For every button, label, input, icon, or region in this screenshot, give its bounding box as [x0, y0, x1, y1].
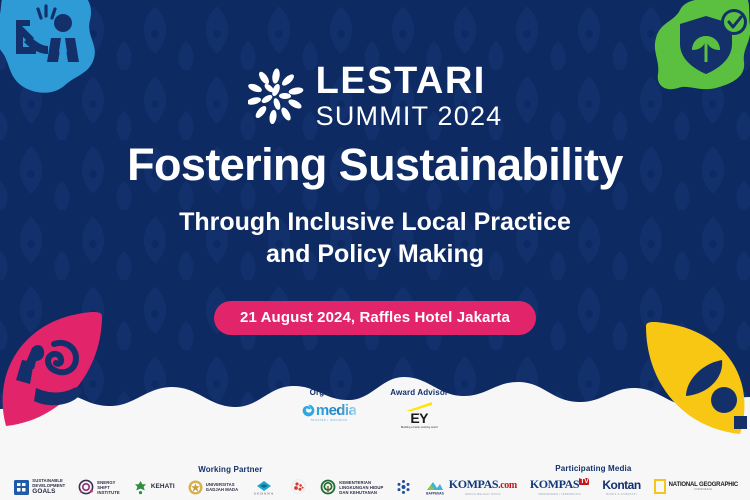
gedana-logo: GEDANA	[251, 479, 277, 495]
date-venue-badge: 21 August 2024, Raffles Hotel Jakarta	[214, 301, 536, 335]
brand-name-primary: LESTARI	[316, 62, 503, 100]
sponsor-footer: Organizer media TRUSTED | INSPIRING Awar…	[0, 388, 750, 500]
esi-line3: INSTITUTE	[97, 490, 120, 495]
brand-name-secondary: SUMMIT 2024	[316, 103, 503, 130]
kg-swirl-icon	[302, 404, 315, 417]
svg-text:GEDANA: GEDANA	[254, 492, 274, 496]
klhk-line3: DAN KEHUTANAN	[339, 490, 377, 495]
universitas-gadjah-mada-logo: UNIVERSITAS GADJAH MADA	[188, 480, 239, 495]
partner-network-logo	[396, 479, 411, 495]
brand-lockup: LESTARI SUMMIT 2024	[0, 62, 750, 130]
ugm-line2: GADJAH MADA	[206, 487, 239, 492]
kompas-com-tagline: JERNIH MELIHAT DUNIA	[449, 493, 517, 496]
energy-shift-institute-logo: ENERGY SHIFT INSTITUTE	[78, 479, 120, 495]
kehati-name: KEHATI	[151, 483, 175, 491]
ey-tagline: Building a better working world	[401, 426, 438, 429]
kompas-tv-tagline: INDEPENDEN | TERPERCAYA	[530, 493, 590, 496]
sdg-line3: GOALS	[32, 488, 65, 496]
kehati-logo: KEHATI	[133, 480, 175, 495]
event-poster: LESTARI SUMMIT 2024 Fostering Sustainabi…	[0, 0, 750, 500]
natgeo-tagline: INDONESIA	[669, 488, 738, 491]
page-subtitle: Through Inclusive Local Practice and Pol…	[0, 206, 750, 270]
participating-media-label: Participating Media	[449, 464, 738, 473]
kontan-tagline: BISNIS & INVESTASI	[602, 493, 640, 496]
kg-media-tagline: TRUSTED | INSPIRING	[302, 419, 356, 422]
kg-media-wordmark: media	[316, 402, 356, 419]
working-partner-label: Working Partner	[12, 465, 449, 474]
participating-media-block: Participating Media KOMPAS.com JERNIH ME…	[449, 464, 738, 496]
kontan-wordmark: Kontan	[602, 478, 640, 492]
award-advisor-block: Award Advisor EY Building a better worki…	[390, 388, 448, 429]
kg-media-logo: media TRUSTED | INSPIRING	[302, 402, 356, 422]
kompas-com-logo: KOMPAS.com JERNIH MELIHAT DUNIA	[449, 477, 517, 496]
kompas-com-wordmark: KOMPAS	[449, 477, 498, 491]
page-title: Fostering Sustainability	[0, 141, 750, 188]
bappenas-logo: BAPPENAS	[424, 479, 446, 495]
award-advisor-label: Award Advisor	[390, 388, 448, 397]
working-partner-block: Working Partner SUSTAINABLE DEVELOPME	[12, 465, 449, 496]
page-subtitle-line1: Through Inclusive Local Practice	[0, 206, 750, 238]
svg-text:BAPPENAS: BAPPENAS	[427, 492, 445, 496]
kontan-logo: Kontan BISNIS & INVESTASI	[602, 478, 640, 496]
organizer-label: Organizer	[310, 388, 349, 397]
kompas-tv-wordmark: KOMPAS	[530, 477, 579, 491]
ey-wordmark: EY	[410, 411, 428, 425]
klhk-logo: KEMENTERIAN LINGKUNGAN HIDUP DAN KEHUTAN…	[320, 479, 383, 495]
sdg-logo: SUSTAINABLE DEVELOPMENT GOALS	[14, 478, 65, 496]
working-partner-logos: SUSTAINABLE DEVELOPMENT GOALS	[12, 478, 449, 496]
participating-media-logos: KOMPAS.com JERNIH MELIHAT DUNIA KOMPASTV…	[449, 477, 738, 496]
page-subtitle-line2: and Policy Making	[0, 238, 750, 270]
natgeo-frame-icon	[654, 479, 666, 494]
kompas-tv-logo: KOMPASTV INDEPENDEN | TERPERCAYA	[530, 477, 590, 496]
ey-logo: EY Building a better working world	[401, 402, 438, 429]
kompas-com-suffix: .com	[498, 480, 517, 491]
kompas-tv-suffix: TV	[579, 478, 589, 485]
tbs-energi-logo	[290, 479, 307, 495]
lestari-leaf-cluster-icon	[248, 68, 304, 124]
national-geographic-logo: NATIONAL GEOGRAPHIC INDONESIA	[654, 479, 738, 494]
organizer-block: Organizer media TRUSTED | INSPIRING	[302, 388, 356, 422]
organizer-row: Organizer media TRUSTED | INSPIRING Awar…	[0, 388, 750, 429]
